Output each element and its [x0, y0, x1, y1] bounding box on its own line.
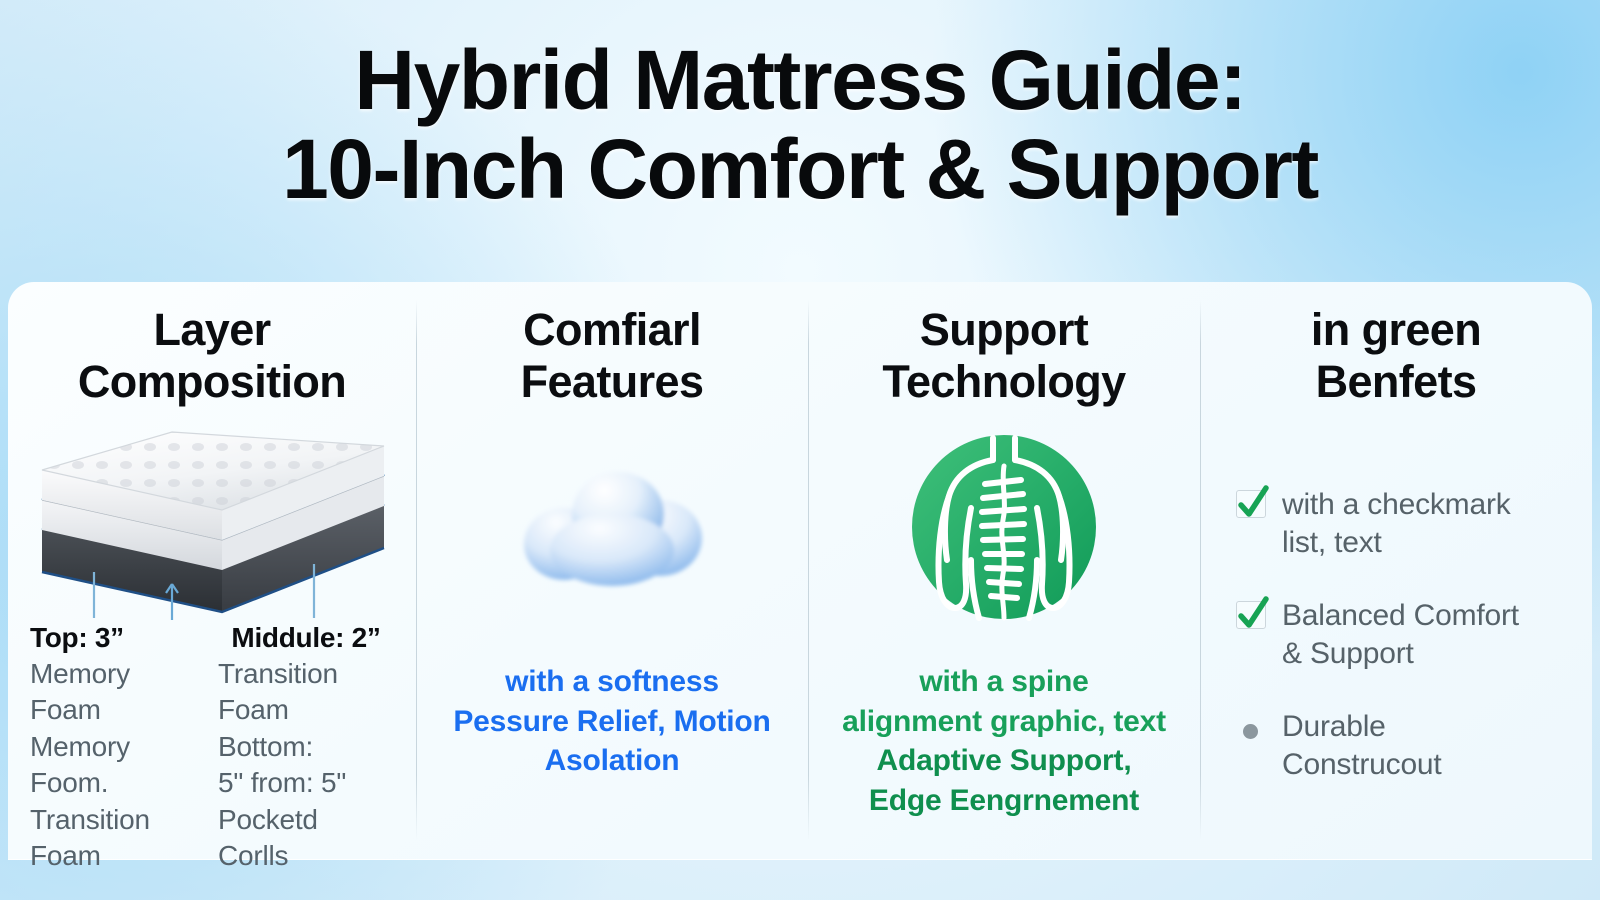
list-item: with a checkmark list, text	[1236, 486, 1574, 563]
benefit-1-line-1: with a checkmark	[1282, 486, 1511, 524]
mattress-illustration-box	[22, 422, 402, 622]
layer-top-line-4: Foam	[30, 838, 206, 874]
comfort-line-1: with a softness	[453, 662, 770, 702]
benefit-2-line-1: Balanced Comfort	[1282, 597, 1519, 635]
title-line-1: Hybrid Mattress Guide:	[0, 36, 1600, 125]
benefit-text: Balanced Comfort & Support	[1282, 597, 1519, 674]
checkmark-icon	[1236, 486, 1282, 518]
column-2-title-line-2: Features	[521, 356, 704, 408]
column-4-title-line-2: Benfets	[1311, 356, 1481, 408]
support-line-2: alignment graphic, text	[842, 702, 1166, 742]
layer-top-line-1: Memory Foam	[30, 656, 206, 729]
comfort-body-text: with a softness Pessure Relief, Motion A…	[453, 662, 770, 781]
benefit-2-line-2: & Support	[1282, 635, 1519, 673]
layer-label-top: Top: 3” Memory Foam Memory Foom. Transit…	[30, 622, 206, 874]
mattress-3d-icon	[22, 422, 402, 622]
column-3-title-line-1: Support	[882, 304, 1125, 356]
comfort-line-3: Asolation	[453, 741, 770, 781]
column-comfort-features: Comfiarl Features	[416, 282, 808, 860]
list-item: Balanced Comfort & Support	[1236, 597, 1574, 674]
benefit-1-line-2: list, text	[1282, 524, 1511, 562]
support-line-3: Adaptive Support,	[842, 741, 1166, 781]
support-body-text: with a spine alignment graphic, text Ada…	[842, 662, 1166, 820]
column-1-title: Layer Composition	[78, 304, 346, 422]
column-3-title-line-2: Technology	[882, 356, 1125, 408]
list-item: Durable Construcout	[1236, 708, 1574, 785]
column-layer-composition: Layer Composition	[8, 282, 416, 860]
layer-middle-line-2: Bottom:	[218, 729, 394, 765]
bullet-dot-icon	[1236, 708, 1282, 739]
comfort-line-2: Pessure Relief, Motion	[453, 702, 770, 742]
layer-middle-line-1: Transition Foam	[218, 656, 394, 729]
column-4-title: in green Benfets	[1311, 304, 1481, 422]
benefit-text: Durable Construcout	[1282, 708, 1442, 785]
support-line-1: with a spine	[842, 662, 1166, 702]
layer-label-middle: Middule: 2” Transition Foam Bottom: 5" f…	[218, 622, 394, 874]
support-line-4: Edge Eengrnement	[842, 781, 1166, 821]
layer-top-heading: Top: 3”	[30, 622, 206, 654]
column-benefits: in green Benfets with a checkmark list, …	[1200, 282, 1592, 860]
spine-illustration-box	[822, 422, 1186, 636]
column-1-title-line-2: Composition	[78, 356, 346, 408]
layer-middle-heading: Middule: 2”	[218, 622, 394, 654]
column-4-title-line-1: in green	[1311, 304, 1481, 356]
column-2-title-line-1: Comfiarl	[521, 304, 704, 356]
page-title: Hybrid Mattress Guide: 10-Inch Comfort &…	[0, 36, 1600, 214]
column-2-title: Comfiarl Features	[521, 304, 704, 422]
layer-labels: Top: 3” Memory Foam Memory Foom. Transit…	[22, 622, 402, 874]
column-1-title-line-1: Layer	[78, 304, 346, 356]
benefit-text: with a checkmark list, text	[1282, 486, 1511, 563]
column-support-technology: Support Technology	[808, 282, 1200, 860]
cloud-illustration-box	[430, 422, 794, 636]
benefit-3-line-1: Durable	[1282, 708, 1442, 746]
checkmark-icon	[1236, 597, 1282, 629]
title-line-2: 10-Inch Comfort & Support	[0, 125, 1600, 214]
layer-top-line-3: Transition	[30, 802, 206, 838]
column-3-title: Support Technology	[882, 304, 1125, 422]
layer-top-line-2: Memory Foom.	[30, 729, 206, 802]
layer-middle-line-3: 5" from: 5"	[218, 765, 394, 801]
benefits-list: with a checkmark list, text Balanced Com…	[1214, 422, 1578, 818]
layer-middle-line-4: Pocketd Corlls	[218, 802, 394, 875]
spine-alignment-icon	[909, 432, 1099, 627]
benefit-3-line-2: Construcout	[1282, 746, 1442, 784]
cloud-icon	[512, 452, 712, 607]
columns-container: Layer Composition	[8, 282, 1592, 860]
